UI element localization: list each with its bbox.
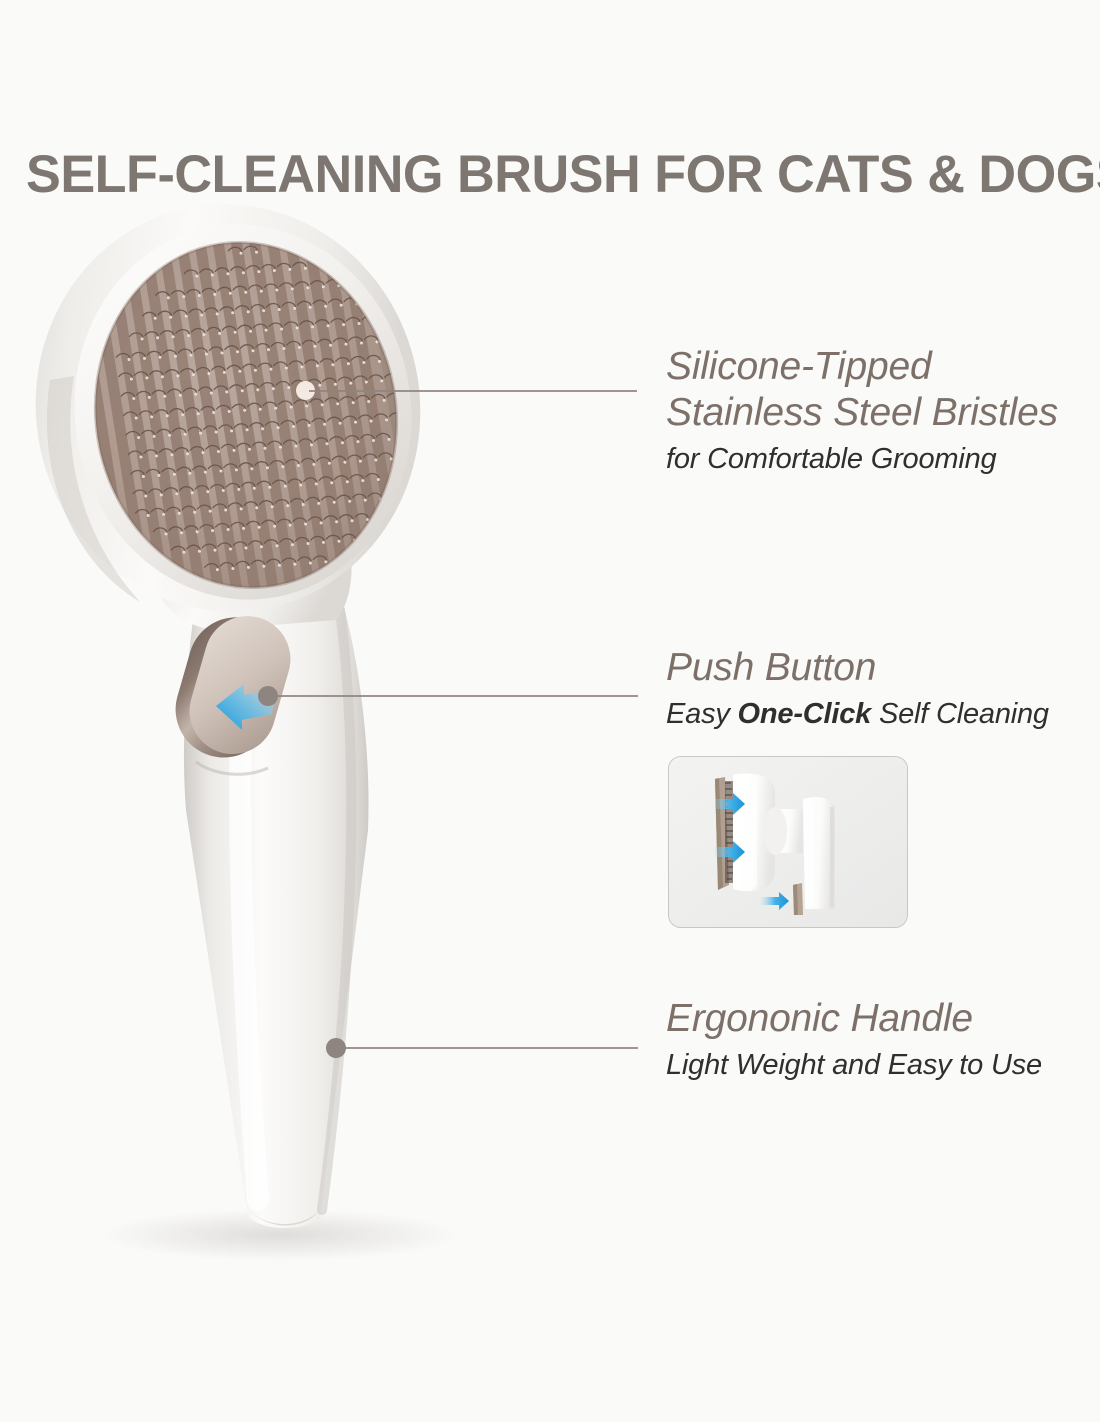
annotation-push-button-subtext-suffix: Self Cleaning bbox=[871, 698, 1049, 730]
annotation-push-button: Push Button Easy One-Click Self Cleaning bbox=[666, 645, 1086, 733]
inset-diagram-svg bbox=[669, 757, 907, 927]
annotation-bristles-subtext: for Comfortable Grooming bbox=[666, 440, 1086, 478]
annotation-handle: Ergononic Handle Light Weight and Easy t… bbox=[666, 996, 1086, 1084]
inset-neck bbox=[763, 807, 803, 855]
annotation-bristles: Silicone-Tipped Stainless Steel Bristles… bbox=[666, 344, 1086, 478]
annotation-push-button-subtext-prefix: Easy bbox=[666, 698, 738, 730]
inset-slider-rod bbox=[793, 883, 803, 915]
annotation-handle-subtext: Light Weight and Easy to Use bbox=[666, 1046, 1086, 1084]
annotation-bristles-subtext-prefix: for Comfortable Grooming bbox=[666, 443, 996, 475]
callout-line-push-button bbox=[272, 695, 638, 697]
annotation-push-button-headline: Push Button bbox=[666, 645, 1086, 691]
annotation-push-button-subtext: Easy One-Click Self Cleaning bbox=[666, 695, 1086, 733]
infographic-page: SELF-CLEANING BRUSH FOR CATS & DOGS bbox=[0, 0, 1100, 1422]
product-illustration bbox=[0, 190, 700, 1270]
annotation-push-button-subtext-bold: One-Click bbox=[738, 698, 872, 730]
inset-bristles bbox=[725, 781, 734, 883]
callout-line-handle bbox=[340, 1047, 638, 1049]
product-svg bbox=[0, 190, 700, 1270]
self-cleaning-inset-diagram bbox=[668, 756, 908, 928]
callout-line-bristles bbox=[309, 390, 637, 392]
inset-handle bbox=[803, 797, 835, 909]
annotation-handle-subtext-prefix: Light Weight and Easy to Use bbox=[666, 1049, 1042, 1081]
annotation-handle-headline: Ergononic Handle bbox=[666, 996, 1086, 1042]
annotation-bristles-headline: Silicone-Tipped Stainless Steel Bristles bbox=[666, 344, 1086, 436]
